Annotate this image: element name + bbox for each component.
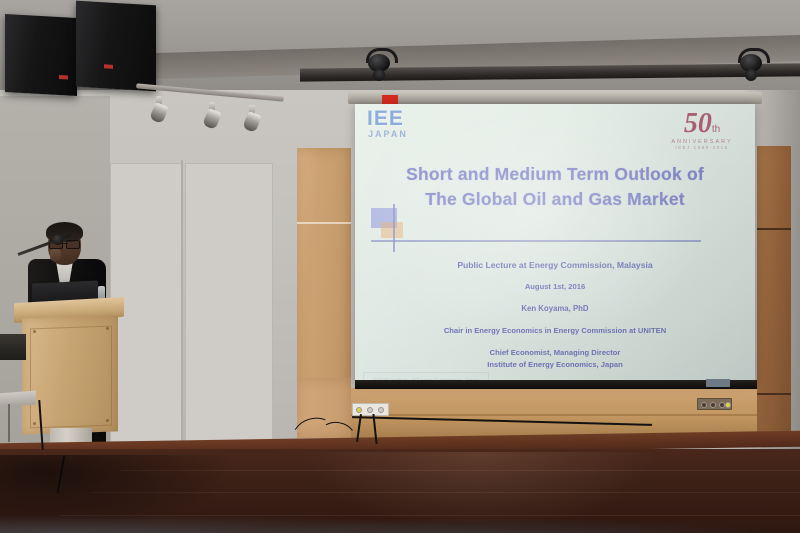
slide-venue: Public Lecture at Energy Commission, Mal… <box>355 260 755 270</box>
presentation-photo-scene: IEE JAPAN 50th ANNIVERSARY IEEJ 1966-201… <box>0 0 800 533</box>
stage-light-lens <box>745 69 757 81</box>
side-table-leg <box>8 404 10 442</box>
screen-pull-tab <box>706 379 730 387</box>
outlet-socket <box>367 407 373 413</box>
speaker-brand-badge <box>59 75 68 80</box>
track-spotlight-2[interactable] <box>205 102 219 128</box>
door-seam <box>181 160 183 442</box>
anniversary-number: 50 <box>684 108 712 139</box>
eyeglass-lens-right <box>66 240 80 249</box>
wall-outlet-left[interactable] <box>352 403 389 416</box>
eyeglass-bridge <box>61 243 68 244</box>
track-spotlight-3[interactable] <box>245 105 259 131</box>
panel-seam-right-1 <box>757 228 791 230</box>
stage-light-left[interactable] <box>366 48 392 82</box>
outlet-socket <box>725 402 731 408</box>
slide-speaker-institute: Institute of Energy Economics, Japan <box>355 360 755 369</box>
panel-seam <box>297 222 351 224</box>
decoration-vertical-rule <box>393 204 395 252</box>
foreground-blur <box>0 505 800 533</box>
slide-speaker-name: Ken Koyama, PhD <box>355 304 755 313</box>
wood-wall-band <box>351 388 757 438</box>
outlet-socket <box>356 407 362 413</box>
stage-light-lens <box>373 69 385 81</box>
microphone-icon <box>53 235 62 245</box>
wood-band-line <box>351 414 757 416</box>
slide-title-line1: Short and Medium Term Outlook of <box>355 162 755 187</box>
anniversary-years: IEEJ 1966-2016 <box>665 145 739 150</box>
podium-inset-panel <box>30 326 112 429</box>
wall-outlet-right[interactable] <box>697 398 732 410</box>
podium-screw <box>106 327 109 330</box>
outlet-socket <box>378 407 384 413</box>
ieej-logo-subtitle: JAPAN <box>368 129 408 139</box>
projection-screen-housing <box>348 92 762 104</box>
projection-screen-bottom-bar <box>355 380 757 389</box>
decoration-horizontal-rule <box>371 240 701 242</box>
housing-red-marker <box>382 95 398 104</box>
slide-date: August 1st, 2016 <box>355 282 755 291</box>
podium-screw <box>106 419 109 422</box>
slide-decoration-motif <box>371 204 441 254</box>
wall-speaker-left <box>5 14 77 96</box>
panel-seam-right-2 <box>757 393 791 395</box>
anniversary-logo: 50th ANNIVERSARY IEEJ 1966-2016 <box>665 110 739 156</box>
decoration-square-orange <box>381 222 403 238</box>
projection-screen[interactable]: IEE JAPAN 50th ANNIVERSARY IEEJ 1966-201… <box>355 104 755 382</box>
presenter-hand <box>50 249 61 261</box>
wall-speaker-right <box>76 1 156 92</box>
podium-screw <box>33 422 36 425</box>
side-table <box>0 391 36 408</box>
spotlight-head <box>149 102 169 124</box>
track-spotlight-1[interactable] <box>152 96 166 122</box>
speaker-brand-badge <box>104 64 113 69</box>
outlet-socket <box>701 402 707 408</box>
outlet-socket <box>710 402 716 408</box>
ieej-logo: IEE <box>367 110 404 129</box>
podium-screw <box>33 330 36 333</box>
slide-speaker-chair: Chair in Energy Economics in Energy Comm… <box>355 326 755 335</box>
slide-speaker-role: Chief Economist, Managing Director <box>355 348 755 357</box>
spotlight-head <box>242 111 262 133</box>
spotlight-head <box>202 108 222 130</box>
floor-equipment-box <box>0 334 26 360</box>
door-panel-right[interactable] <box>185 163 273 442</box>
stage-light-right[interactable] <box>738 48 764 82</box>
anniversary-ordinal: th <box>712 124 720 135</box>
presentation-slide: IEE JAPAN 50th ANNIVERSARY IEEJ 1966-201… <box>355 104 755 382</box>
